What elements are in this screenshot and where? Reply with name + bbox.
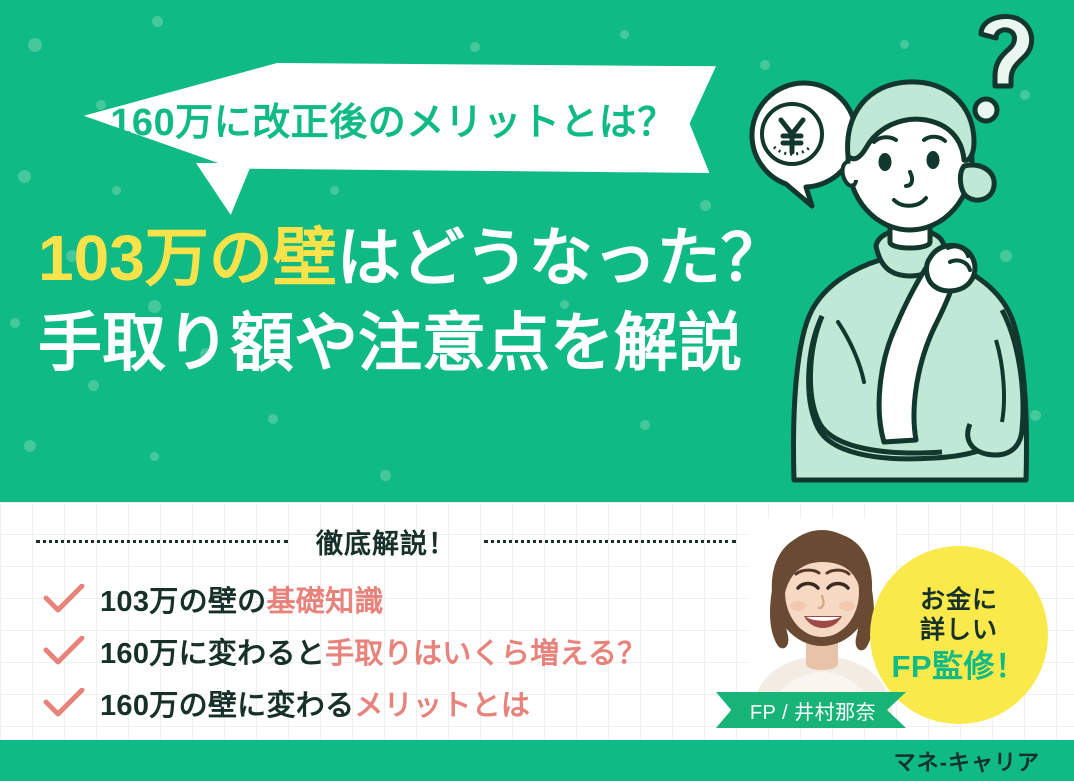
badge-line-2: 詳しい: [920, 615, 998, 646]
list-item-highlight: 手取りはいくら増える？: [325, 638, 646, 670]
section-title: 徹底解説！: [288, 522, 484, 561]
list-item-plain: 160万に変わると: [100, 638, 325, 670]
speech-bubble-text: 160万に改正後のメリットとは？: [56, 63, 716, 173]
expert-name-ribbon: FP / 井村那奈: [716, 692, 906, 728]
article-thumbnail-banner: 160万に改正後のメリットとは？ 103万の壁はどうなった？ 手取り額や注意点を…: [0, 0, 1074, 781]
list-item-text: 160万の壁に変わるメリットとは: [100, 682, 530, 724]
list-item-text: 160万に変わると手取りはいくら増える？: [100, 630, 647, 672]
yen-coin-bubble-icon: [752, 83, 856, 206]
dashed-rule-left: [36, 540, 288, 543]
expert-name-label: FP / 井村那奈: [746, 696, 876, 725]
top-speech-bubble: 160万に改正後のメリットとは？: [56, 63, 716, 173]
headline-line-2: 手取り額や注意点を解説: [38, 301, 828, 386]
page-title: 103万の壁はどうなった？ 手取り額や注意点を解説: [38, 216, 828, 386]
dashed-rule-right: [484, 540, 736, 543]
list-item-plain: 160万の壁に変わる: [100, 690, 354, 722]
brand-logo: マネ-キャリア: [894, 745, 1074, 777]
headline-accent: 103万の壁: [38, 222, 337, 294]
list-item-highlight: メリットとは: [354, 690, 530, 722]
badge-line-1: お金に: [920, 585, 998, 616]
list-item: 103万の壁の基礎知識: [42, 574, 742, 624]
list-item: 160万に変わると手取りはいくら増える？: [42, 626, 742, 676]
list-item-highlight: 基礎知識: [267, 586, 384, 618]
bullet-list: 103万の壁の基礎知識 160万に変わると手取りはいくら増える？ 160万の壁に…: [42, 574, 742, 730]
headline-rest: はどうなった？: [337, 222, 785, 294]
check-icon: [42, 688, 86, 718]
list-item: 160万の壁に変わるメリットとは: [42, 678, 742, 728]
check-icon: [42, 636, 86, 666]
list-item-plain: 103万の壁の: [100, 586, 267, 618]
badge-line-3: FP監修！: [891, 648, 1026, 686]
thinking-woman-illustration: [734, 10, 1074, 490]
footer-bar: マネ-キャリア: [0, 740, 1074, 781]
check-icon: [42, 584, 86, 614]
hero-section: 160万に改正後のメリットとは？ 103万の壁はどうなった？ 手取り額や注意点を…: [0, 0, 1074, 502]
question-mark-icon: [975, 16, 1032, 121]
headline-line-1: 103万の壁はどうなった？: [38, 216, 828, 301]
section-header: 徹底解説！: [36, 524, 736, 558]
list-item-text: 103万の壁の基礎知識: [100, 578, 384, 620]
